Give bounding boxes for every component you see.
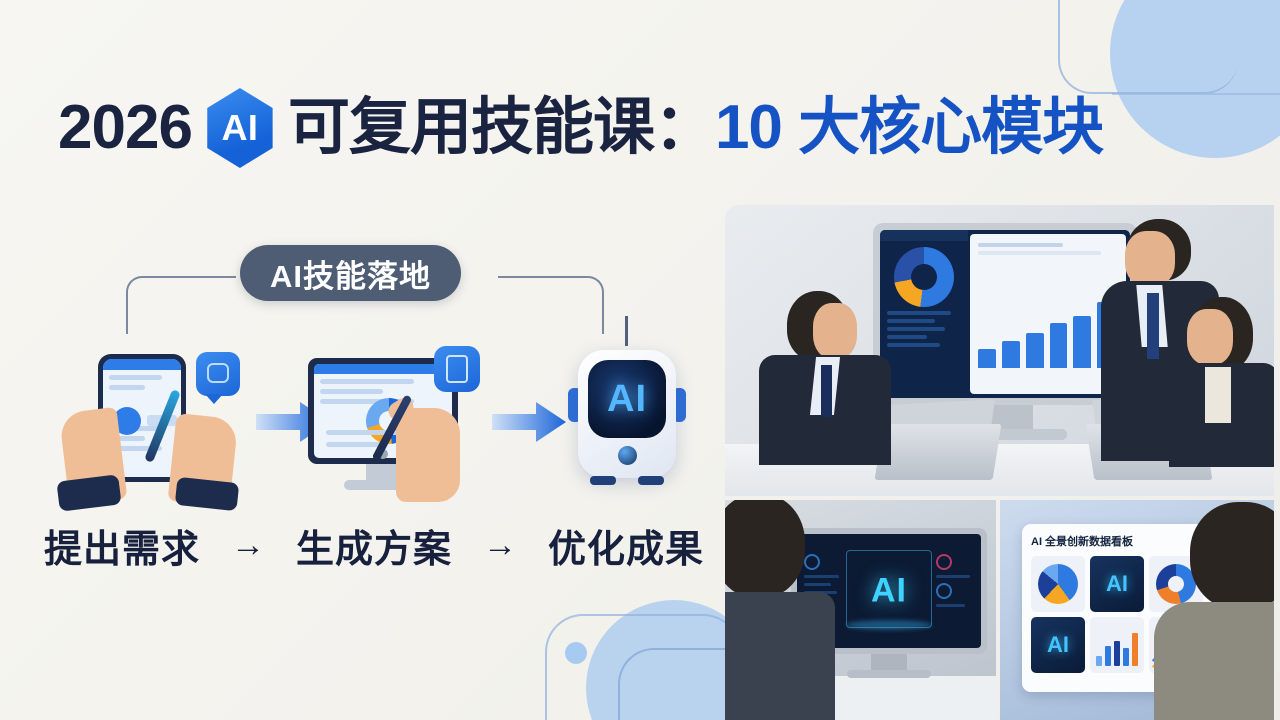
right-sleeve — [175, 477, 240, 511]
photo-business-meeting — [725, 205, 1274, 496]
step-2-illustration — [292, 338, 492, 508]
pointing-hand — [396, 408, 460, 502]
flow-pill-label: AI技能落地 — [270, 251, 431, 296]
page-title: 2026 AI 可复用技能课： 10 大核心模块 — [58, 88, 1103, 168]
caption-step-2: 生成方案 — [296, 518, 452, 573]
decor-dot-bottom — [565, 642, 587, 664]
board-ai-card-1: AI — [1090, 556, 1144, 612]
camera-lens-icon — [618, 446, 637, 465]
dashboard-bar-chart — [978, 296, 1115, 368]
robot-ai-label: AI — [607, 378, 647, 421]
board-ai-card-2: AI — [1031, 617, 1085, 673]
caption-step-3: 优化成果 — [548, 518, 704, 573]
caption-step-1: 提出需求 — [44, 518, 200, 573]
decor-rounded-outline-top-right — [1058, 0, 1238, 94]
tablet-icon — [434, 346, 480, 392]
flow-illustration-row: AI — [40, 338, 700, 508]
step-3-illustration: AI — [546, 338, 706, 508]
flow-caption: 提出需求 → 生成方案 → 优化成果 — [44, 518, 704, 573]
caption-arrow-1-icon: → — [231, 526, 265, 565]
title-main-blue: 10 大核心模块 — [715, 97, 1103, 159]
poster-canvas: 2026 AI 可复用技能课： 10 大核心模块 AI技能落地 — [0, 0, 1280, 720]
board-pie-card — [1031, 556, 1085, 612]
decor-line-top-right — [1112, 93, 1280, 95]
left-sleeve — [56, 474, 121, 511]
chat-bubble-icon — [196, 352, 240, 396]
ai-hologram-label: AI — [871, 572, 907, 611]
decor-rounded-outline-bottom-a — [545, 614, 741, 720]
board-ai-label-1: AI — [1106, 571, 1128, 597]
ai-hexagon-badge-icon: AI — [202, 88, 278, 168]
robot-screen-face: AI — [588, 360, 666, 438]
board-bar-card — [1090, 617, 1144, 673]
caption-arrow-2-icon: → — [483, 526, 517, 565]
meeting-monitor — [873, 223, 1137, 405]
decor-circle-top-right — [1110, 0, 1280, 158]
title-main-dark: 可复用技能课： — [288, 97, 715, 159]
photo-ai-presentation-board: AI 全景创新数据看板 AI AI — [1000, 500, 1274, 720]
photo-ai-dashboard-viewer: AI — [725, 500, 996, 720]
board-ai-label-2: AI — [1047, 632, 1069, 658]
ai-badge-label: AI — [221, 107, 258, 149]
robot-foot-left — [590, 476, 616, 485]
dashboard-donut-chart — [894, 247, 954, 307]
flow-pill-badge: AI技能落地 — [240, 245, 461, 301]
antenna-icon — [625, 316, 628, 346]
step-1-illustration — [50, 338, 250, 508]
ai-robot-icon: AI — [568, 344, 686, 496]
robot-foot-right — [638, 476, 664, 485]
title-year: 2026 — [58, 97, 192, 159]
person-presenter — [1138, 506, 1274, 720]
photo-collage: AI AI 全景创新数据看板 AI — [725, 205, 1274, 720]
